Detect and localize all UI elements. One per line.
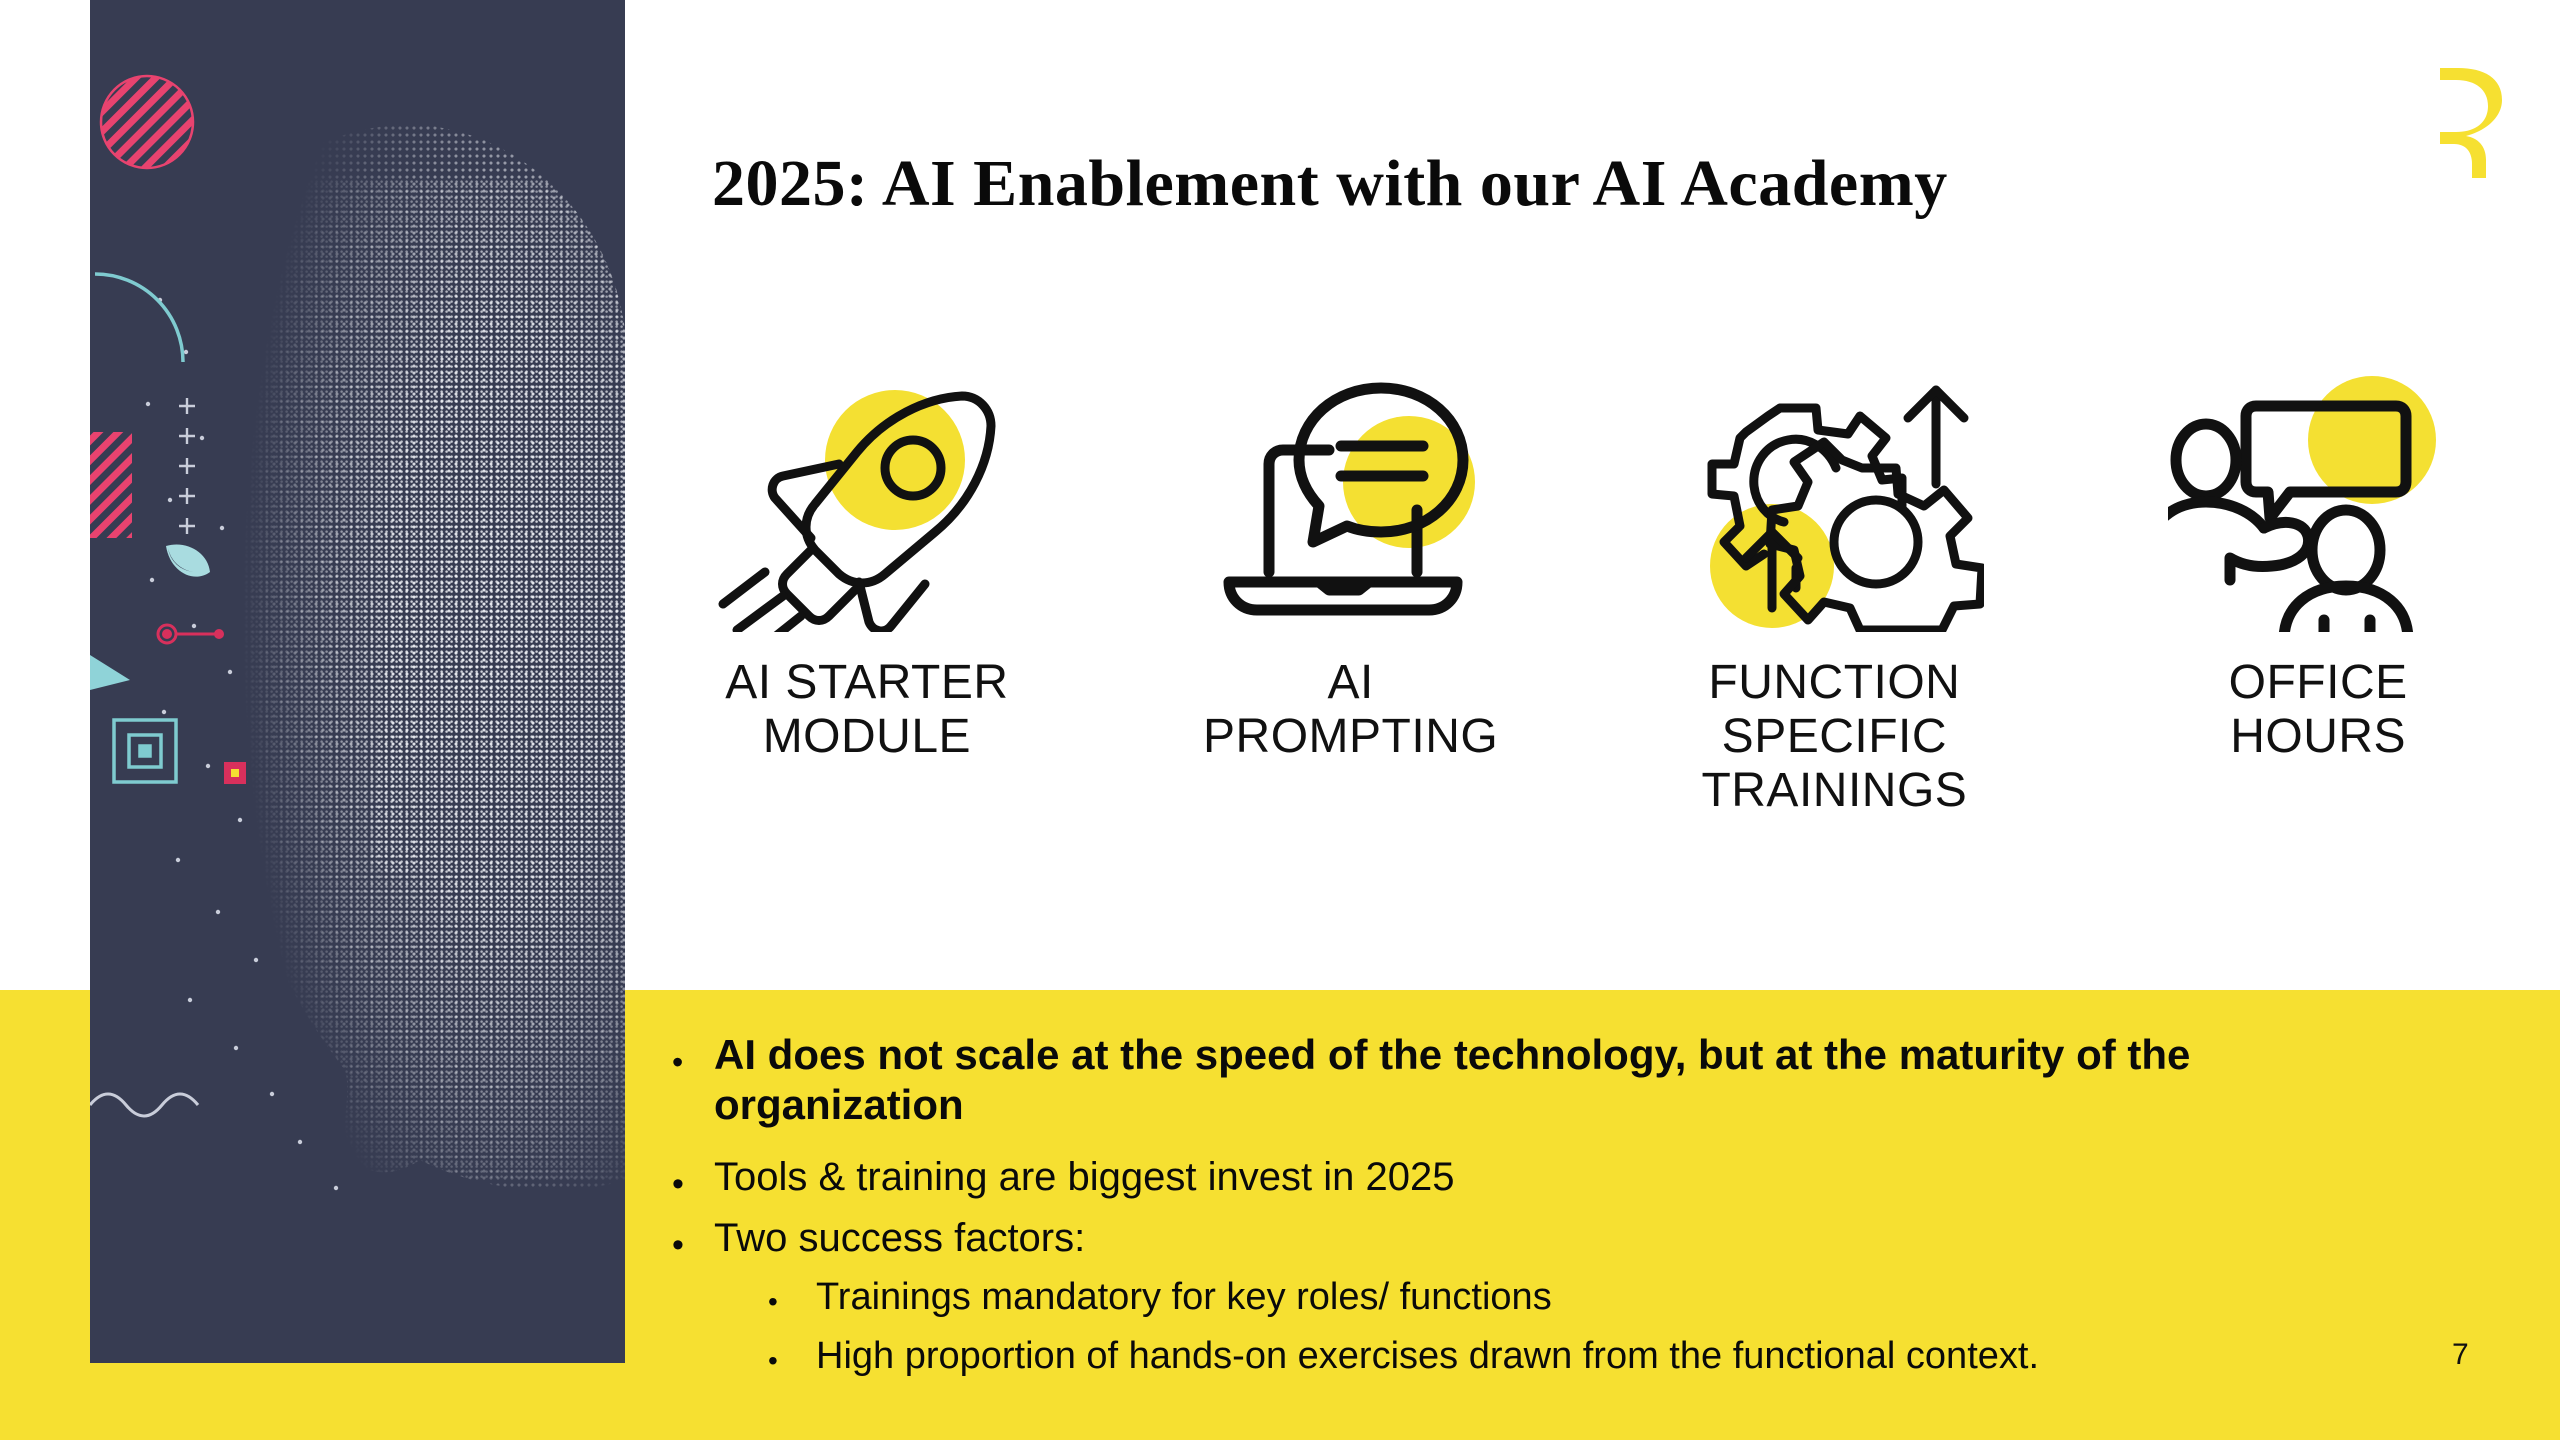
list-item: • High proportion of hands-on exercises … bbox=[768, 1333, 2432, 1379]
dotted-face-portrait bbox=[90, 0, 625, 1363]
bullet-marker: • bbox=[672, 1153, 714, 1201]
rocket-icon bbox=[717, 372, 1017, 632]
yellow-blob bbox=[2308, 376, 2436, 504]
list-item: • AI does not scale at the speed of the … bbox=[672, 1030, 2432, 1131]
pillar-label: AI PROMPTING bbox=[1203, 656, 1498, 764]
bullet-list: • AI does not scale at the speed of the … bbox=[672, 1030, 2432, 1391]
logo-r-icon bbox=[2432, 48, 2560, 178]
gears-arrows-icon bbox=[1684, 372, 1984, 632]
list-item: • Trainings mandatory for key roles/ fun… bbox=[768, 1274, 2432, 1320]
bullet-text: Trainings mandatory for key roles/ funct… bbox=[816, 1274, 2432, 1320]
page-number: 7 bbox=[2452, 1338, 2469, 1372]
pillar-function-specific-trainings[interactable]: FUNCTION SPECIFIC TRAININGS bbox=[1593, 372, 2077, 932]
pillar-label: AI STARTER MODULE bbox=[725, 656, 1008, 764]
bullet-marker: • bbox=[672, 1030, 714, 1078]
hatched-circle-decoration bbox=[101, 76, 193, 168]
pillar-label: FUNCTION SPECIFIC TRAININGS bbox=[1701, 656, 1967, 819]
bullet-text: High proportion of hands-on exercises dr… bbox=[816, 1333, 2432, 1379]
bullet-marker: • bbox=[768, 1274, 816, 1316]
hatched-rect-decoration-upper bbox=[90, 432, 132, 538]
page-title: 2025: AI Enablement with our AI Academy bbox=[712, 149, 1948, 218]
pillar-office-hours[interactable]: OFFICE HOURS bbox=[2076, 372, 2560, 932]
brand-logo-r bbox=[2432, 48, 2560, 178]
panel-graphics bbox=[90, 0, 625, 1363]
pillar-icon-row: AI STARTER MODULE bbox=[625, 372, 2560, 932]
pillar-label: OFFICE HOURS bbox=[2229, 656, 2408, 764]
bullet-text: Tools & training are biggest invest in 2… bbox=[714, 1153, 2432, 1202]
bullet-marker: • bbox=[672, 1214, 714, 1262]
pink-square-decoration bbox=[224, 762, 246, 784]
slide-root: 2025: AI Enablement with our AI Academy bbox=[0, 0, 2560, 1440]
bullet-text: Two success factors: bbox=[714, 1214, 2432, 1263]
decorative-left-panel bbox=[90, 0, 625, 1363]
people-speech-icon bbox=[2168, 372, 2468, 632]
pillar-ai-prompting[interactable]: AI PROMPTING bbox=[1109, 372, 1593, 932]
bullet-marker: • bbox=[768, 1333, 816, 1375]
bullet-text: AI does not scale at the speed of the te… bbox=[714, 1030, 2432, 1131]
laptop-chat-icon bbox=[1201, 372, 1501, 632]
list-item: • Two success factors: bbox=[672, 1214, 2432, 1263]
list-item: • Tools & training are biggest invest in… bbox=[672, 1153, 2432, 1202]
pillar-ai-starter-module[interactable]: AI STARTER MODULE bbox=[625, 372, 1109, 932]
